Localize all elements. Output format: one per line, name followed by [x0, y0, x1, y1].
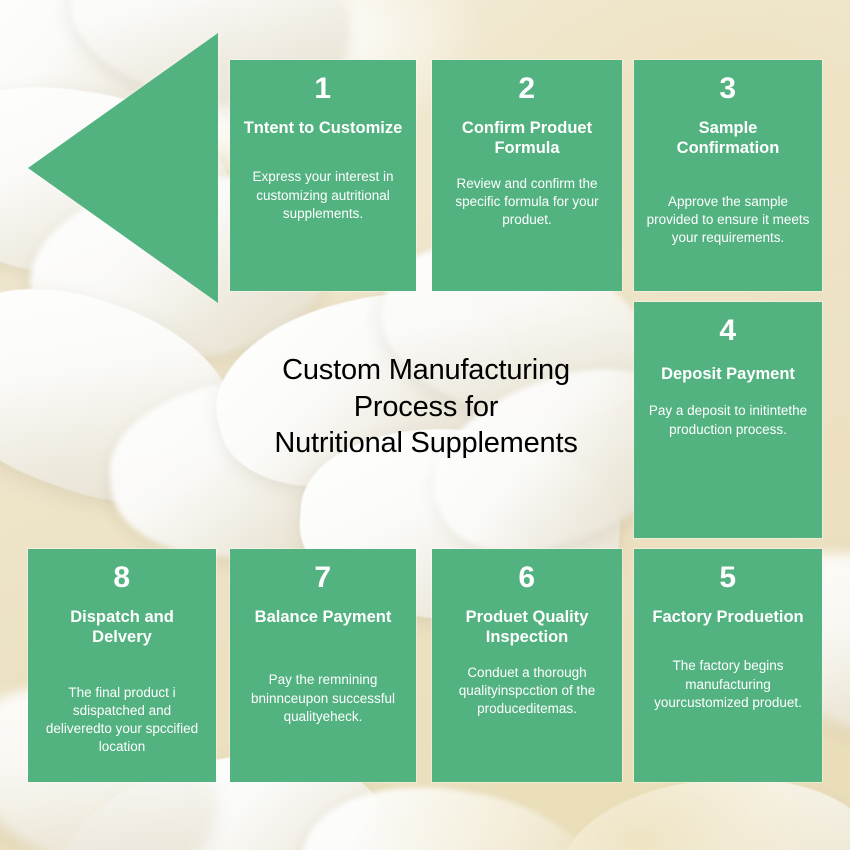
step-description: Review and confirm the specific formula … — [444, 175, 610, 229]
step-title: Factory Produetion — [646, 607, 810, 627]
step-number: 8 — [40, 563, 204, 593]
step-title: Balance Payment — [242, 607, 404, 627]
step-number: 4 — [646, 316, 810, 346]
step-description: Pay a deposit to initintethe production … — [646, 402, 810, 438]
step-number: 1 — [242, 74, 404, 104]
step-title: Deposit Payment — [646, 364, 810, 384]
step-description: Approve the sample provided to ensure it… — [646, 193, 810, 247]
step-description: Pay the remnining bninnceupon successful… — [242, 671, 404, 725]
step-description: Express your interest in customizing aut… — [242, 168, 404, 222]
step-card-6[interactable]: 6 Produet Quality Inspection Conduet a t… — [432, 549, 622, 782]
step-number: 7 — [242, 563, 404, 593]
step-card-5[interactable]: 5 Factory Produetion The factory begins … — [634, 549, 822, 782]
page-title: Custom Manufacturing Process for Nutriti… — [228, 352, 624, 462]
step-card-2[interactable]: 2 Confirm Produet Formula Review and con… — [432, 60, 622, 291]
triangle-left-icon — [28, 33, 218, 303]
step-card-7[interactable]: 7 Balance Payment Pay the remnining bnin… — [230, 549, 416, 782]
step-number: 5 — [646, 563, 810, 593]
step-description: The final product i sdispatched and deli… — [40, 684, 204, 756]
step-card-3[interactable]: 3 Sample Confirmation Approve the sample… — [634, 60, 822, 291]
step-number: 3 — [646, 74, 810, 104]
step-title: Sample Confirmation — [646, 118, 810, 159]
page-title-line-1: Custom Manufacturing — [228, 352, 624, 389]
step-card-8[interactable]: 8 Dispatch and Delvery The final product… — [28, 549, 216, 782]
infographic-canvas: 1 Tntent to Customize Express your inter… — [0, 0, 850, 850]
page-title-line-2: Process for — [228, 389, 624, 426]
step-title: Confirm Produet Formula — [444, 118, 610, 159]
step-card-1[interactable]: 1 Tntent to Customize Express your inter… — [230, 60, 416, 291]
page-title-line-3: Nutritional Supplements — [228, 425, 624, 462]
step-title: Tntent to Customize — [242, 118, 404, 138]
step-number: 6 — [444, 563, 610, 593]
step-description: Conduet a thorough qualityinspcction of … — [444, 664, 610, 718]
step-description: The factory begins manufacturing yourcus… — [646, 657, 810, 711]
step-number: 2 — [444, 74, 610, 104]
step-card-4[interactable]: 4 Deposit Payment Pay a deposit to initi… — [634, 302, 822, 538]
step-title: Produet Quality Inspection — [444, 607, 610, 648]
step-title: Dispatch and Delvery — [40, 607, 204, 648]
